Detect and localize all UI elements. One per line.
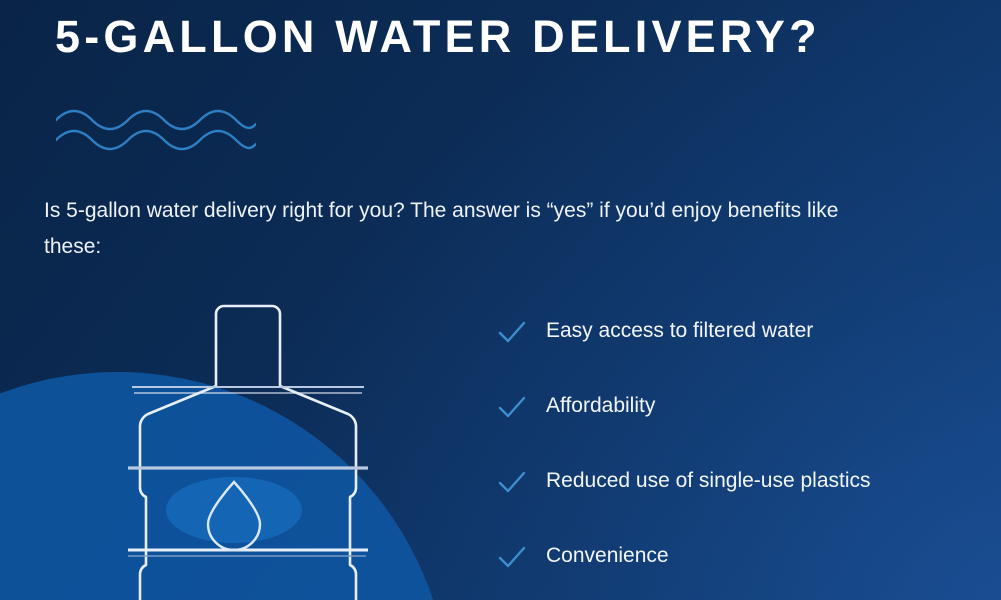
label-ellipse: [166, 477, 302, 543]
list-item-label: Affordability: [546, 393, 655, 419]
check-icon: [498, 395, 526, 421]
list-item-label: Easy access to filtered water: [546, 318, 813, 344]
list-item-label: Convenience: [546, 543, 669, 569]
check-icon: [498, 470, 526, 496]
check-icon: [498, 545, 526, 571]
check-icon: [498, 320, 526, 346]
water-bottle-illustration: [88, 288, 408, 600]
page-title: 5-GALLON WATER DELIVERY?: [55, 14, 985, 59]
intro-paragraph: Is 5-gallon water delivery right for you…: [44, 193, 894, 265]
list-item-label: Reduced use of single-use plastics: [546, 468, 871, 494]
infographic-canvas: 5-GALLON WATER DELIVERY? Is 5-gallon wat…: [0, 0, 1001, 600]
list-item: Easy access to filtered water: [498, 318, 978, 393]
benefits-list: Easy access to filtered water Affordabil…: [498, 318, 978, 600]
list-item: Affordability: [498, 393, 978, 468]
list-item: Convenience: [498, 543, 978, 600]
wave-divider: [56, 108, 256, 156]
five-gallon-water-bottle: [88, 288, 408, 600]
list-item: Reduced use of single-use plastics: [498, 468, 978, 543]
wave-divider-icon: [56, 108, 256, 156]
